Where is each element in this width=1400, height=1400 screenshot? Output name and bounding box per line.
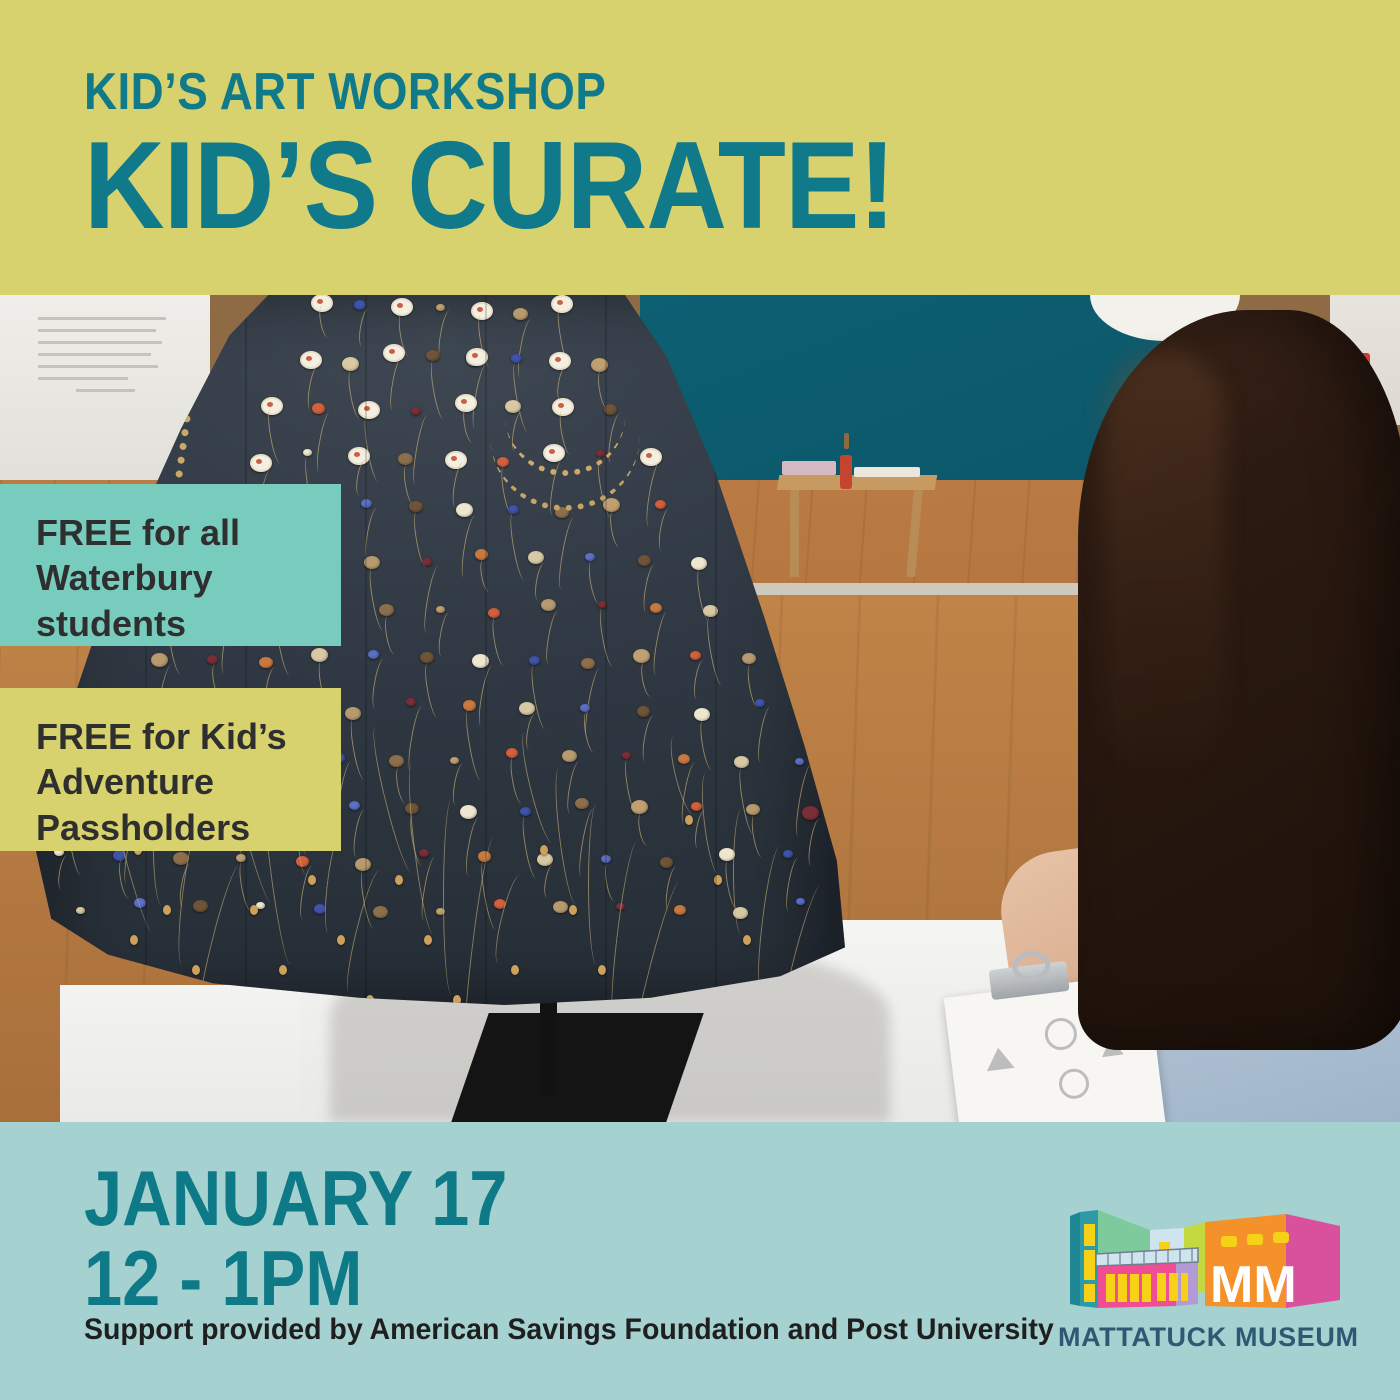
girl-hair — [1078, 310, 1400, 1050]
fabric-fold — [605, 295, 607, 1005]
event-date: JANUARY 17 — [84, 1162, 507, 1235]
logo-wordmark: MATTATUCK MUSEUM — [1058, 1322, 1348, 1353]
fabric-fold — [485, 295, 487, 1005]
supply-table — [777, 475, 938, 490]
header-band: KID’S ART WORKSHOP KID’S CURATE! — [0, 0, 1400, 295]
page-title: KID’S CURATE! — [84, 124, 895, 248]
pearl-strand — [490, 295, 640, 511]
eyebrow-title: KID’S ART WORKSHOP — [84, 62, 606, 122]
badge-adventure-passholders: FREE for Kid’s Adventure Passholders — [0, 688, 341, 851]
wall-label-text-lines — [38, 317, 166, 407]
mannequin-base — [451, 1013, 704, 1122]
fabric-fold — [245, 295, 247, 1005]
table-supplies — [782, 447, 932, 477]
badge-waterbury-students: FREE for all Waterbury students — [0, 484, 341, 646]
support-credit: Support provided by American Savings Fou… — [84, 1313, 1054, 1347]
fabric-fold — [365, 295, 367, 1005]
mattatuck-museum-logo[interactable]: MM MATTATUCK MUSEUM — [1058, 1196, 1348, 1366]
mm-monogram: MM — [1210, 1256, 1297, 1314]
table-leg — [790, 489, 799, 577]
museum-building-icon: MM — [1058, 1196, 1348, 1322]
event-flyer: KID’S ART WORKSHOP KID’S CURATE! FREE fo… — [0, 0, 1400, 1400]
event-time: 12 - 1PM — [84, 1242, 362, 1315]
